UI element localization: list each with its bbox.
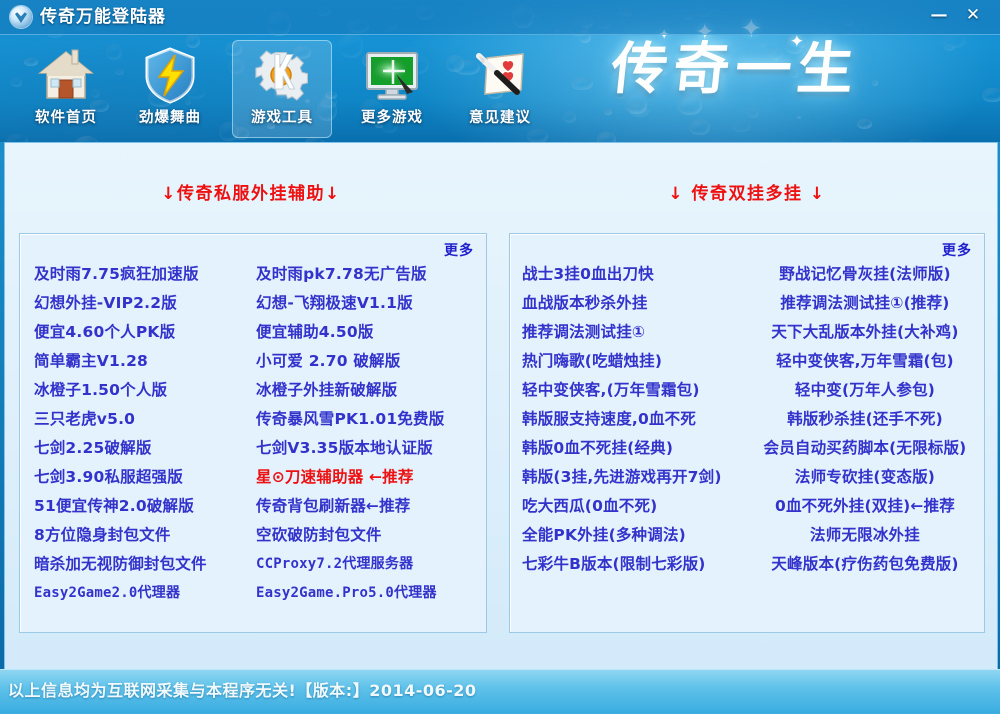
list-item[interactable]: 吃大西瓜(0血不死) xyxy=(510,492,744,521)
list-item[interactable]: 韩版0血不死挂(经典) xyxy=(510,434,744,463)
list-item[interactable]: 轻中变(万年人参包) xyxy=(744,376,984,405)
list-item[interactable]: 空砍破防封包文件 xyxy=(252,521,486,550)
toolbar-item-1[interactable]: 软件首页 xyxy=(16,40,116,138)
minimize-button[interactable]: — xyxy=(926,4,952,26)
list-item[interactable]: 韩版服支持速度,0血不死 xyxy=(510,405,744,434)
content-panel: ↓传奇私服外挂辅助↓ ↓ 传奇双挂多挂 ↓ 更多 及时雨7.75疯狂加速版及时雨… xyxy=(4,142,998,672)
list-row: 推荐调法测试挂①天下大乱版本外挂(大补鸡) xyxy=(510,318,984,347)
toolbar-item-label: 意见建议 xyxy=(450,106,550,127)
list-item[interactable]: 七彩牛B版本(限制七彩版) xyxy=(510,550,744,579)
toolbar-item-5[interactable]: 意见建议 xyxy=(450,40,550,138)
list-row: 韩版(3挂,先进游戏再开7剑)法师专砍挂(变态版) xyxy=(510,463,984,492)
list-row: 暗杀加无视防御封包文件CCProxy7.2代理服务器 xyxy=(20,550,486,579)
more-link-left[interactable]: 更多 xyxy=(444,240,474,260)
toolbar-item-label: 软件首页 xyxy=(16,106,116,127)
list-item[interactable]: 全能PK外挂(多种调法) xyxy=(510,521,744,550)
toolbar-item-3[interactable]: 游戏工具 xyxy=(232,40,332,138)
list-item[interactable]: 法师专砍挂(变态版) xyxy=(744,463,984,492)
list-item[interactable]: 51便宜传神2.0破解版 xyxy=(20,492,252,521)
list-item[interactable]: 冰橙子1.50个人版 xyxy=(20,376,252,405)
list-item[interactable]: 冰橙子外挂新破解版 xyxy=(252,376,486,405)
application-window: 传奇一生 ✦ ✦ ✦ ✦ 传奇万能登陆器 — ✕ 软件首页 xyxy=(0,0,1000,714)
right-list-box: 更多 战士3挂0血出刀快野战记忆骨灰挂(法师版)血战版本秒杀外挂推荐调法测试挂①… xyxy=(509,233,985,633)
list-row: 8方位隐身封包文件空砍破防封包文件 xyxy=(20,521,486,550)
right-column-heading: ↓ 传奇双挂多挂 ↓ xyxy=(497,182,997,206)
app-logo-icon xyxy=(10,6,32,28)
window-title: 传奇万能登陆器 xyxy=(40,4,166,30)
list-item[interactable]: 七剑V3.35版本地认证版 xyxy=(252,434,486,463)
more-link-right[interactable]: 更多 xyxy=(942,240,972,260)
list-row: 七剑2.25破解版七剑V3.35版本地认证版 xyxy=(20,434,486,463)
list-item[interactable]: Easy2Game.Pro5.0代理器 xyxy=(252,579,486,608)
list-item[interactable]: 轻中变侠客,万年雪霜(包) xyxy=(744,347,984,376)
gear-k-icon xyxy=(253,46,311,104)
toolbar-item-2[interactable]: 劲爆舞曲 xyxy=(120,40,220,138)
list-row: 幻想外挂-VIP2.2版幻想-飞翔极速V1.1版 xyxy=(20,289,486,318)
list-item[interactable]: 野战记忆骨灰挂(法师版) xyxy=(744,260,984,289)
list-item[interactable]: 战士3挂0血出刀快 xyxy=(510,260,744,289)
list-item[interactable]: 七剑2.25破解版 xyxy=(20,434,252,463)
list-item[interactable]: 简单霸主V1.28 xyxy=(20,347,252,376)
list-row: 轻中变侠客,(万年雪霜包)轻中变(万年人参包) xyxy=(510,376,984,405)
list-item[interactable]: 天峰版本(疗伤药包免费版) xyxy=(744,550,984,579)
list-item[interactable]: 及时雨pk7.78无广告版 xyxy=(252,260,486,289)
list-row: 便宜4.60个人PK版便宜辅助4.50版 xyxy=(20,318,486,347)
list-item[interactable]: 0血不死外挂(双挂)←推荐 xyxy=(744,492,984,521)
list-row: 简单霸主V1.28小可爱 2.70 破解版 xyxy=(20,347,486,376)
list-item[interactable]: 暗杀加无视防御封包文件 xyxy=(20,550,252,579)
list-row: 血战版本秒杀外挂推荐调法测试挂①(推荐) xyxy=(510,289,984,318)
list-item[interactable]: 天下大乱版本外挂(大补鸡) xyxy=(744,318,984,347)
list-item[interactable]: 星⊙刀速辅助器 ←推荐 xyxy=(252,463,486,492)
home-icon xyxy=(37,46,95,104)
list-row: 韩版服支持速度,0血不死韩版秒杀挂(还手不死) xyxy=(510,405,984,434)
lightning-shield-icon xyxy=(141,46,199,104)
list-item[interactable]: 三只老虎v5.0 xyxy=(20,405,252,434)
left-column-heading: ↓传奇私服外挂辅助↓ xyxy=(5,182,497,206)
list-item[interactable]: 小可爱 2.70 破解版 xyxy=(252,347,486,376)
list-item[interactable]: 韩版(3挂,先进游戏再开7剑) xyxy=(510,463,744,492)
list-item[interactable]: 幻想外挂-VIP2.2版 xyxy=(20,289,252,318)
notepad-pen-icon xyxy=(471,46,529,104)
title-bar: 传奇万能登陆器 — ✕ xyxy=(0,0,1000,35)
left-list-grid: 及时雨7.75疯狂加速版及时雨pk7.78无广告版幻想外挂-VIP2.2版幻想-… xyxy=(20,260,486,608)
list-item[interactable]: CCProxy7.2代理服务器 xyxy=(252,550,486,579)
list-item[interactable]: 会员自动买药脚本(无限标版) xyxy=(744,434,984,463)
list-item[interactable]: 推荐调法测试挂① xyxy=(510,318,744,347)
toolbar-item-4[interactable]: 更多游戏 xyxy=(342,40,442,138)
list-item[interactable]: 幻想-飞翔极速V1.1版 xyxy=(252,289,486,318)
list-item[interactable]: 便宜4.60个人PK版 xyxy=(20,318,252,347)
main-toolbar: 软件首页 劲爆舞曲 游戏工具 xyxy=(0,36,1000,142)
list-row: 热门嗨歌(吃蜡烛挂)轻中变侠客,万年雪霜(包) xyxy=(510,347,984,376)
list-item[interactable]: 及时雨7.75疯狂加速版 xyxy=(20,260,252,289)
list-item[interactable]: 血战版本秒杀外挂 xyxy=(510,289,744,318)
list-item[interactable]: 韩版秒杀挂(还手不死) xyxy=(744,405,984,434)
list-row: 全能PK外挂(多种调法)法师无限冰外挂 xyxy=(510,521,984,550)
list-row: 三只老虎v5.0传奇暴风雪PK1.01免费版 xyxy=(20,405,486,434)
list-item[interactable]: Easy2Game2.0代理器 xyxy=(20,579,252,608)
right-list-grid: 战士3挂0血出刀快野战记忆骨灰挂(法师版)血战版本秒杀外挂推荐调法测试挂①(推荐… xyxy=(510,260,984,579)
toolbar-item-label: 劲爆舞曲 xyxy=(120,106,220,127)
list-item[interactable]: 传奇暴风雪PK1.01免费版 xyxy=(252,405,486,434)
list-row: 冰橙子1.50个人版冰橙子外挂新破解版 xyxy=(20,376,486,405)
list-item[interactable]: 8方位隐身封包文件 xyxy=(20,521,252,550)
list-item[interactable]: 热门嗨歌(吃蜡烛挂) xyxy=(510,347,744,376)
list-row: 七彩牛B版本(限制七彩版)天峰版本(疗伤药包免费版) xyxy=(510,550,984,579)
monitor-icon xyxy=(363,46,421,104)
left-list-box: 更多 及时雨7.75疯狂加速版及时雨pk7.78无广告版幻想外挂-VIP2.2版… xyxy=(19,233,487,633)
list-item[interactable]: 便宜辅助4.50版 xyxy=(252,318,486,347)
status-bar-text: 以上信息均为互联网采集与本程序无关!【版本:】2014-06-20 xyxy=(8,679,477,703)
list-row: 吃大西瓜(0血不死)0血不死外挂(双挂)←推荐 xyxy=(510,492,984,521)
list-item[interactable]: 法师无限冰外挂 xyxy=(744,521,984,550)
status-bar: 以上信息均为互联网采集与本程序无关!【版本:】2014-06-20 xyxy=(0,669,1000,714)
list-row: 51便宜传神2.0破解版传奇背包刷新器←推荐 xyxy=(20,492,486,521)
list-item[interactable]: 推荐调法测试挂①(推荐) xyxy=(744,289,984,318)
list-row: 战士3挂0血出刀快野战记忆骨灰挂(法师版) xyxy=(510,260,984,289)
list-item[interactable]: 轻中变侠客,(万年雪霜包) xyxy=(510,376,744,405)
window-header: 传奇一生 ✦ ✦ ✦ ✦ 传奇万能登陆器 — ✕ 软件首页 xyxy=(0,0,1000,142)
toolbar-item-label: 更多游戏 xyxy=(342,106,442,127)
list-row: Easy2Game2.0代理器Easy2Game.Pro5.0代理器 xyxy=(20,579,486,608)
close-button[interactable]: ✕ xyxy=(960,4,986,26)
list-row: 七剑3.90私服超强版星⊙刀速辅助器 ←推荐 xyxy=(20,463,486,492)
list-item[interactable]: 七剑3.90私服超强版 xyxy=(20,463,252,492)
list-row: 韩版0血不死挂(经典)会员自动买药脚本(无限标版) xyxy=(510,434,984,463)
list-row: 及时雨7.75疯狂加速版及时雨pk7.78无广告版 xyxy=(20,260,486,289)
toolbar-item-label: 游戏工具 xyxy=(232,106,332,127)
list-item[interactable]: 传奇背包刷新器←推荐 xyxy=(252,492,486,521)
